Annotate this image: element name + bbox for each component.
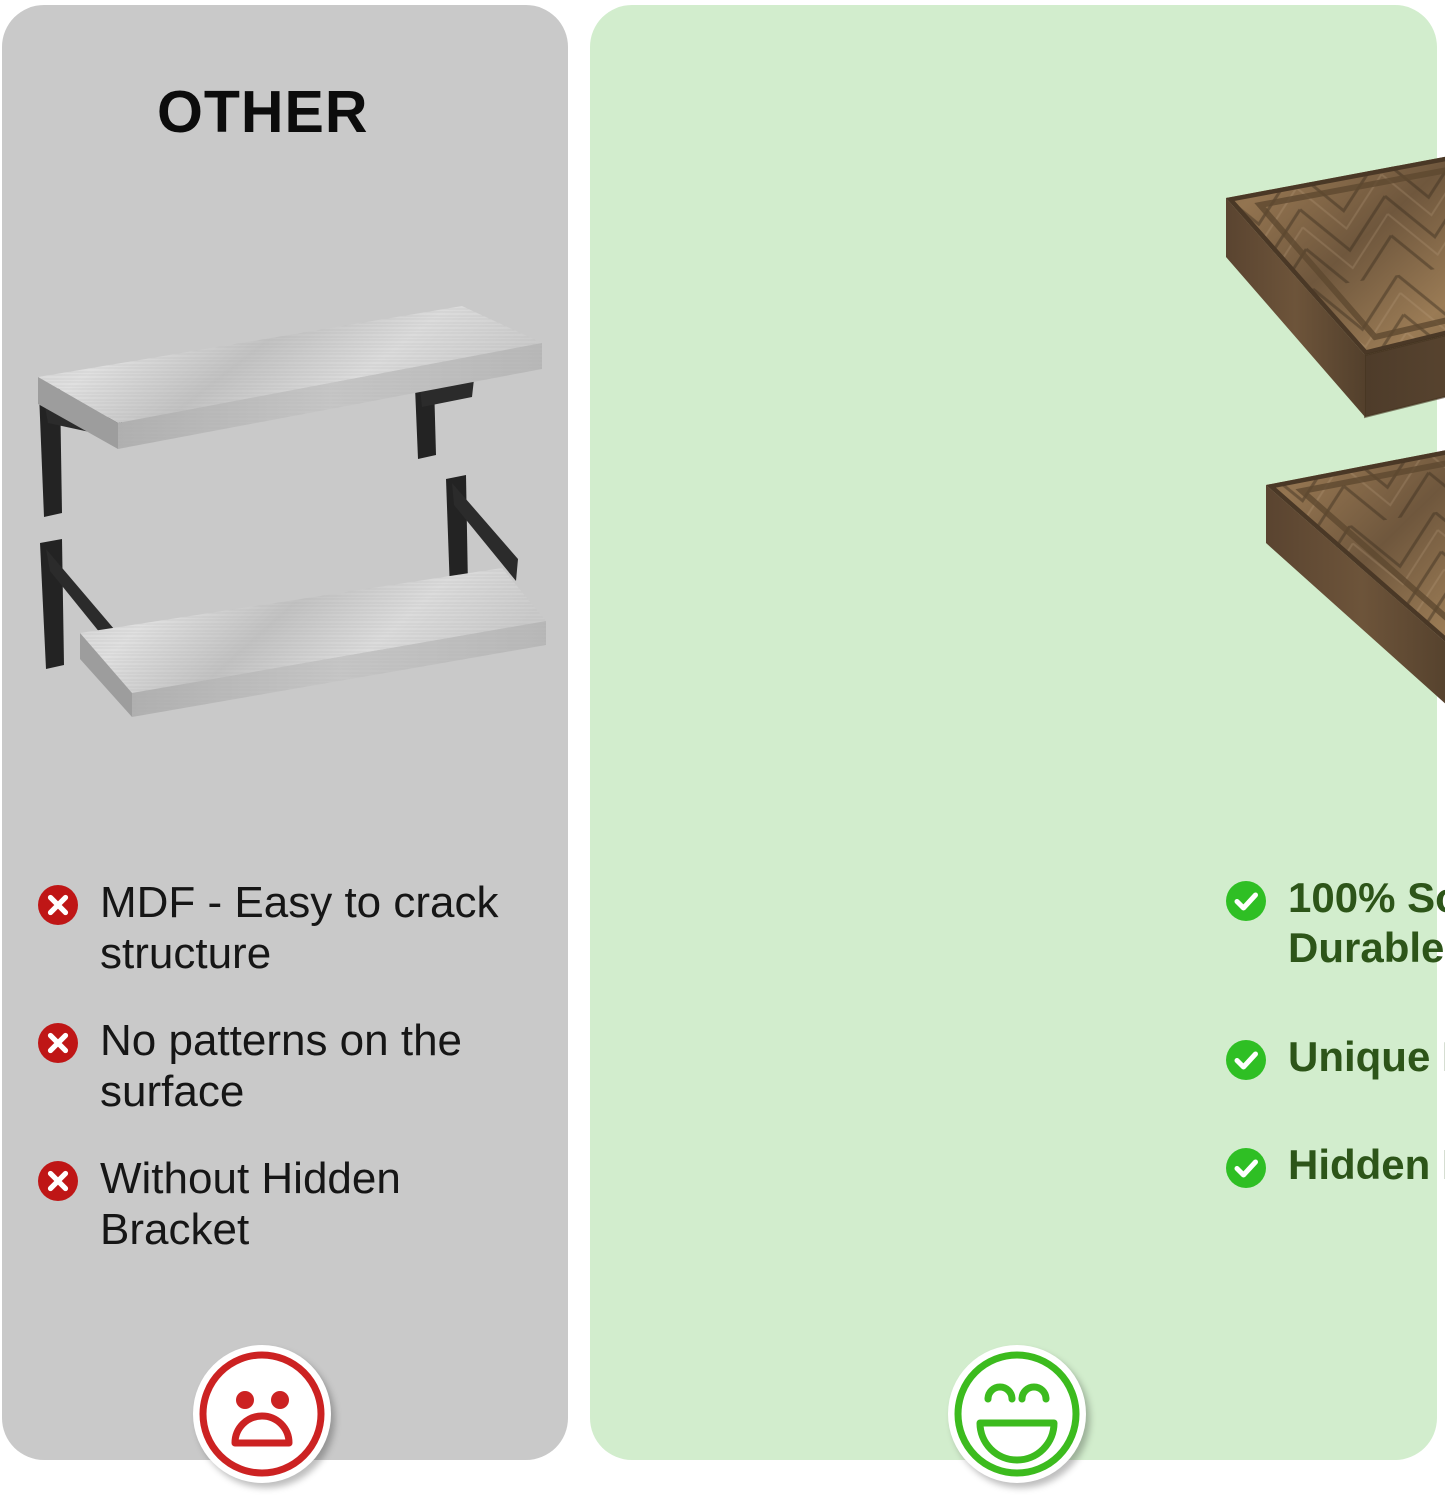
cross-icon: [38, 1023, 78, 1063]
cross-icon: [38, 1161, 78, 1201]
list-item: MDF - Easy to crack structure: [38, 877, 508, 979]
panel-other: OTHER: [2, 5, 568, 1460]
acacia-shelf-illustration: [1190, 65, 1445, 785]
list-item: 100% Solid Acacia Wood - Durable wood st…: [1226, 873, 1445, 974]
sad-face-icon: [193, 1345, 331, 1483]
feature-list-howizz: 100% Solid Acacia Wood - Durable wood st…: [1226, 873, 1445, 1191]
list-item-label: Hidden Bracket: [1288, 1140, 1445, 1190]
list-item: Hidden Bracket: [1226, 1140, 1445, 1190]
list-item-label: 100% Solid Acacia Wood - Durable wood st…: [1288, 873, 1445, 974]
list-item-label: No patterns on the surface: [100, 1015, 508, 1117]
feature-list-other: MDF - Easy to crack structure No pattern…: [38, 877, 508, 1255]
panel-howizz: Howizz: [590, 5, 1437, 1460]
cross-icon: [38, 885, 78, 925]
check-icon: [1226, 881, 1266, 921]
page-title: OTHER: [157, 83, 369, 142]
list-item: No patterns on the surface: [38, 1015, 508, 1117]
list-item: Unique Herringbone Pattern: [1226, 1032, 1445, 1082]
list-item-label: Unique Herringbone Pattern: [1288, 1032, 1445, 1082]
happy-face-icon: [948, 1345, 1086, 1483]
check-icon: [1226, 1148, 1266, 1188]
list-item-label: Without Hidden Bracket: [100, 1153, 508, 1255]
product-comparison-infographic: OTHER: [0, 0, 1445, 1496]
check-icon: [1226, 1040, 1266, 1080]
list-item-label: MDF - Easy to crack structure: [100, 877, 508, 979]
list-item: Without Hidden Bracket: [38, 1153, 508, 1255]
mdf-shelf-illustration: [22, 293, 552, 718]
